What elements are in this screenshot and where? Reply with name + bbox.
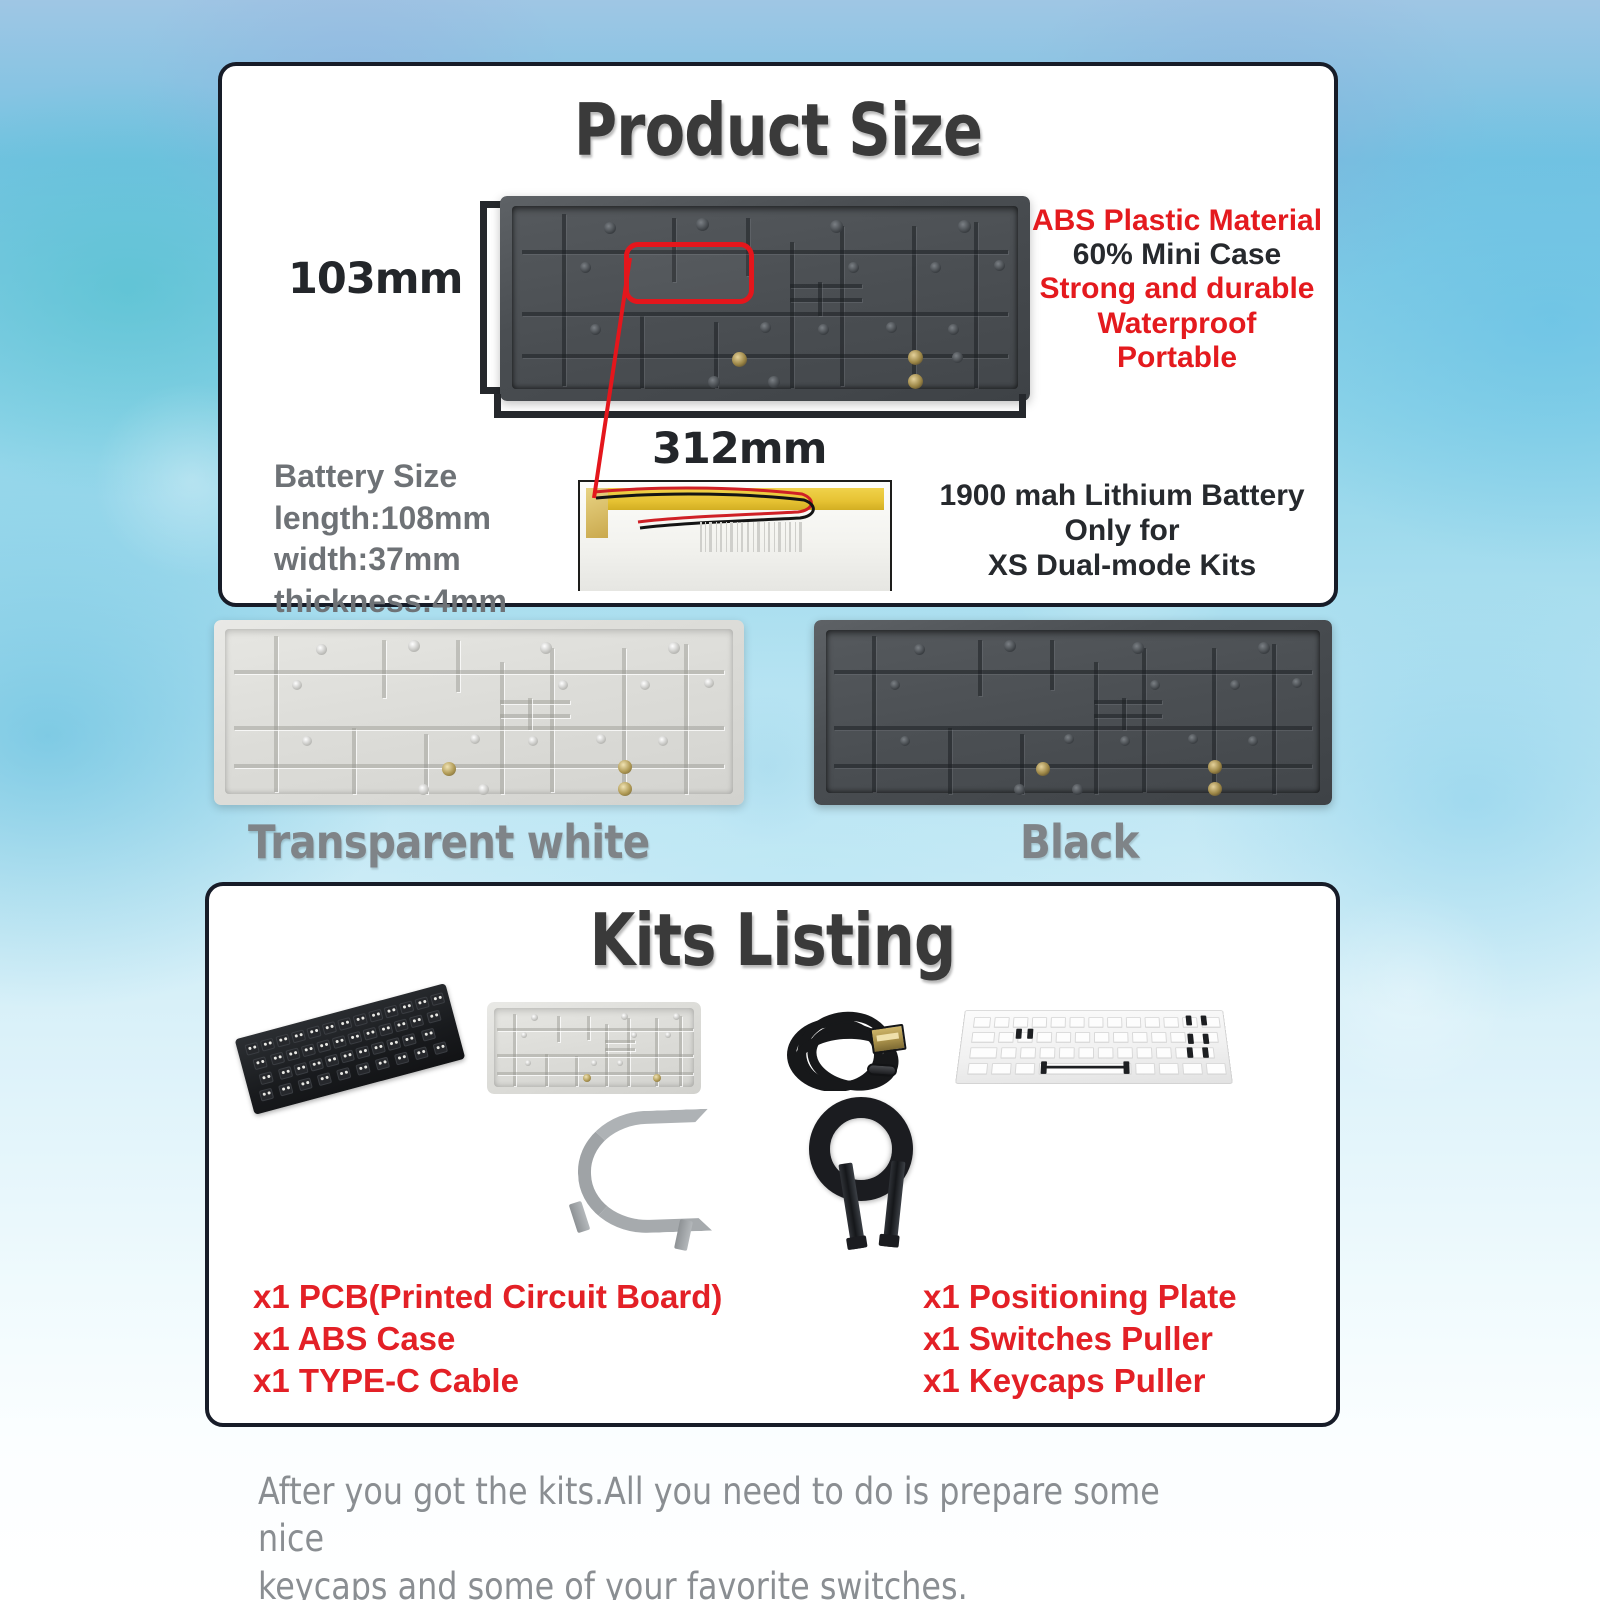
material-spec-block: ABS Plastic Material 60% Mini Case Stron… — [1012, 204, 1342, 375]
kits-list-right: x1 Positioning Plate x1 Switches Puller … — [923, 1276, 1237, 1403]
battery-size-thickness: thickness:4mm — [274, 581, 507, 623]
case-color-label-white: Transparent white — [248, 815, 649, 869]
spec-line-waterproof: Waterproof — [1012, 307, 1342, 341]
list-item: x1 Switches Puller — [923, 1318, 1237, 1360]
battery-desc-line1: 1900 mah Lithium Battery — [912, 478, 1332, 513]
case-photo-transparent-white — [214, 620, 744, 805]
product-image-positioning-plate — [949, 986, 1249, 1108]
kits-list-left: x1 PCB(Printed Circuit Board) x1 ABS Cas… — [253, 1276, 722, 1403]
product-size-panel: Product Size 103mm — [218, 62, 1338, 607]
spec-line-mini-case: 60% Mini Case — [1012, 238, 1342, 272]
spec-line-portable: Portable — [1012, 341, 1342, 375]
battery-size-heading: Battery Size — [274, 456, 507, 498]
height-dimension-label: 103mm — [288, 254, 462, 304]
product-image-pcb — [229, 994, 479, 1122]
keyboard-case-photo-dark — [500, 196, 1030, 401]
product-image-switches-puller — [787, 1091, 967, 1261]
kits-listing-panel: Kits Listing — [205, 882, 1340, 1427]
usb-a-connector-icon — [869, 1024, 906, 1054]
list-item: x1 Keycaps Puller — [923, 1360, 1237, 1402]
list-item: x1 PCB(Printed Circuit Board) — [253, 1276, 722, 1318]
case-photo-black — [814, 620, 1332, 805]
footer-line-2: keycaps and some of your favorite switch… — [258, 1563, 1170, 1600]
product-image-keycaps-puller — [549, 1094, 749, 1259]
list-item: x1 ABS Case — [253, 1318, 722, 1360]
width-dimension-label: 312mm — [652, 424, 826, 474]
battery-description-block: 1900 mah Lithium Battery Only for XS Dua… — [912, 478, 1332, 583]
case-color-label-black: Black — [1020, 815, 1139, 869]
lithium-battery-photo — [574, 476, 894, 591]
battery-size-width: width:37mm — [274, 539, 507, 581]
list-item: x1 Positioning Plate — [923, 1276, 1237, 1318]
list-item: x1 TYPE-C Cable — [253, 1360, 722, 1402]
battery-desc-line2: Only for — [912, 513, 1332, 548]
page-title-product-size: Product Size — [322, 88, 1234, 172]
usb-c-connector-icon — [867, 1063, 898, 1077]
footer-line-1: After you got the kits.All you need to d… — [258, 1468, 1170, 1563]
spec-line-abs: ABS Plastic Material — [1012, 204, 1342, 238]
page-title-kits-listing: Kits Listing — [310, 898, 1234, 982]
barcode-icon — [698, 522, 828, 556]
footer-note: After you got the kits.All you need to d… — [258, 1468, 1170, 1600]
battery-size-length: length:108mm — [274, 498, 507, 540]
battery-size-block: Battery Size length:108mm width:37mm thi… — [274, 456, 507, 622]
battery-desc-line3: XS Dual-mode Kits — [912, 548, 1332, 583]
battery-bay-highlight — [624, 242, 754, 304]
infographic-page: Product Size 103mm — [0, 0, 1600, 1600]
product-image-abs-case — [479, 998, 709, 1108]
spec-line-durable: Strong and durable — [1012, 272, 1342, 306]
